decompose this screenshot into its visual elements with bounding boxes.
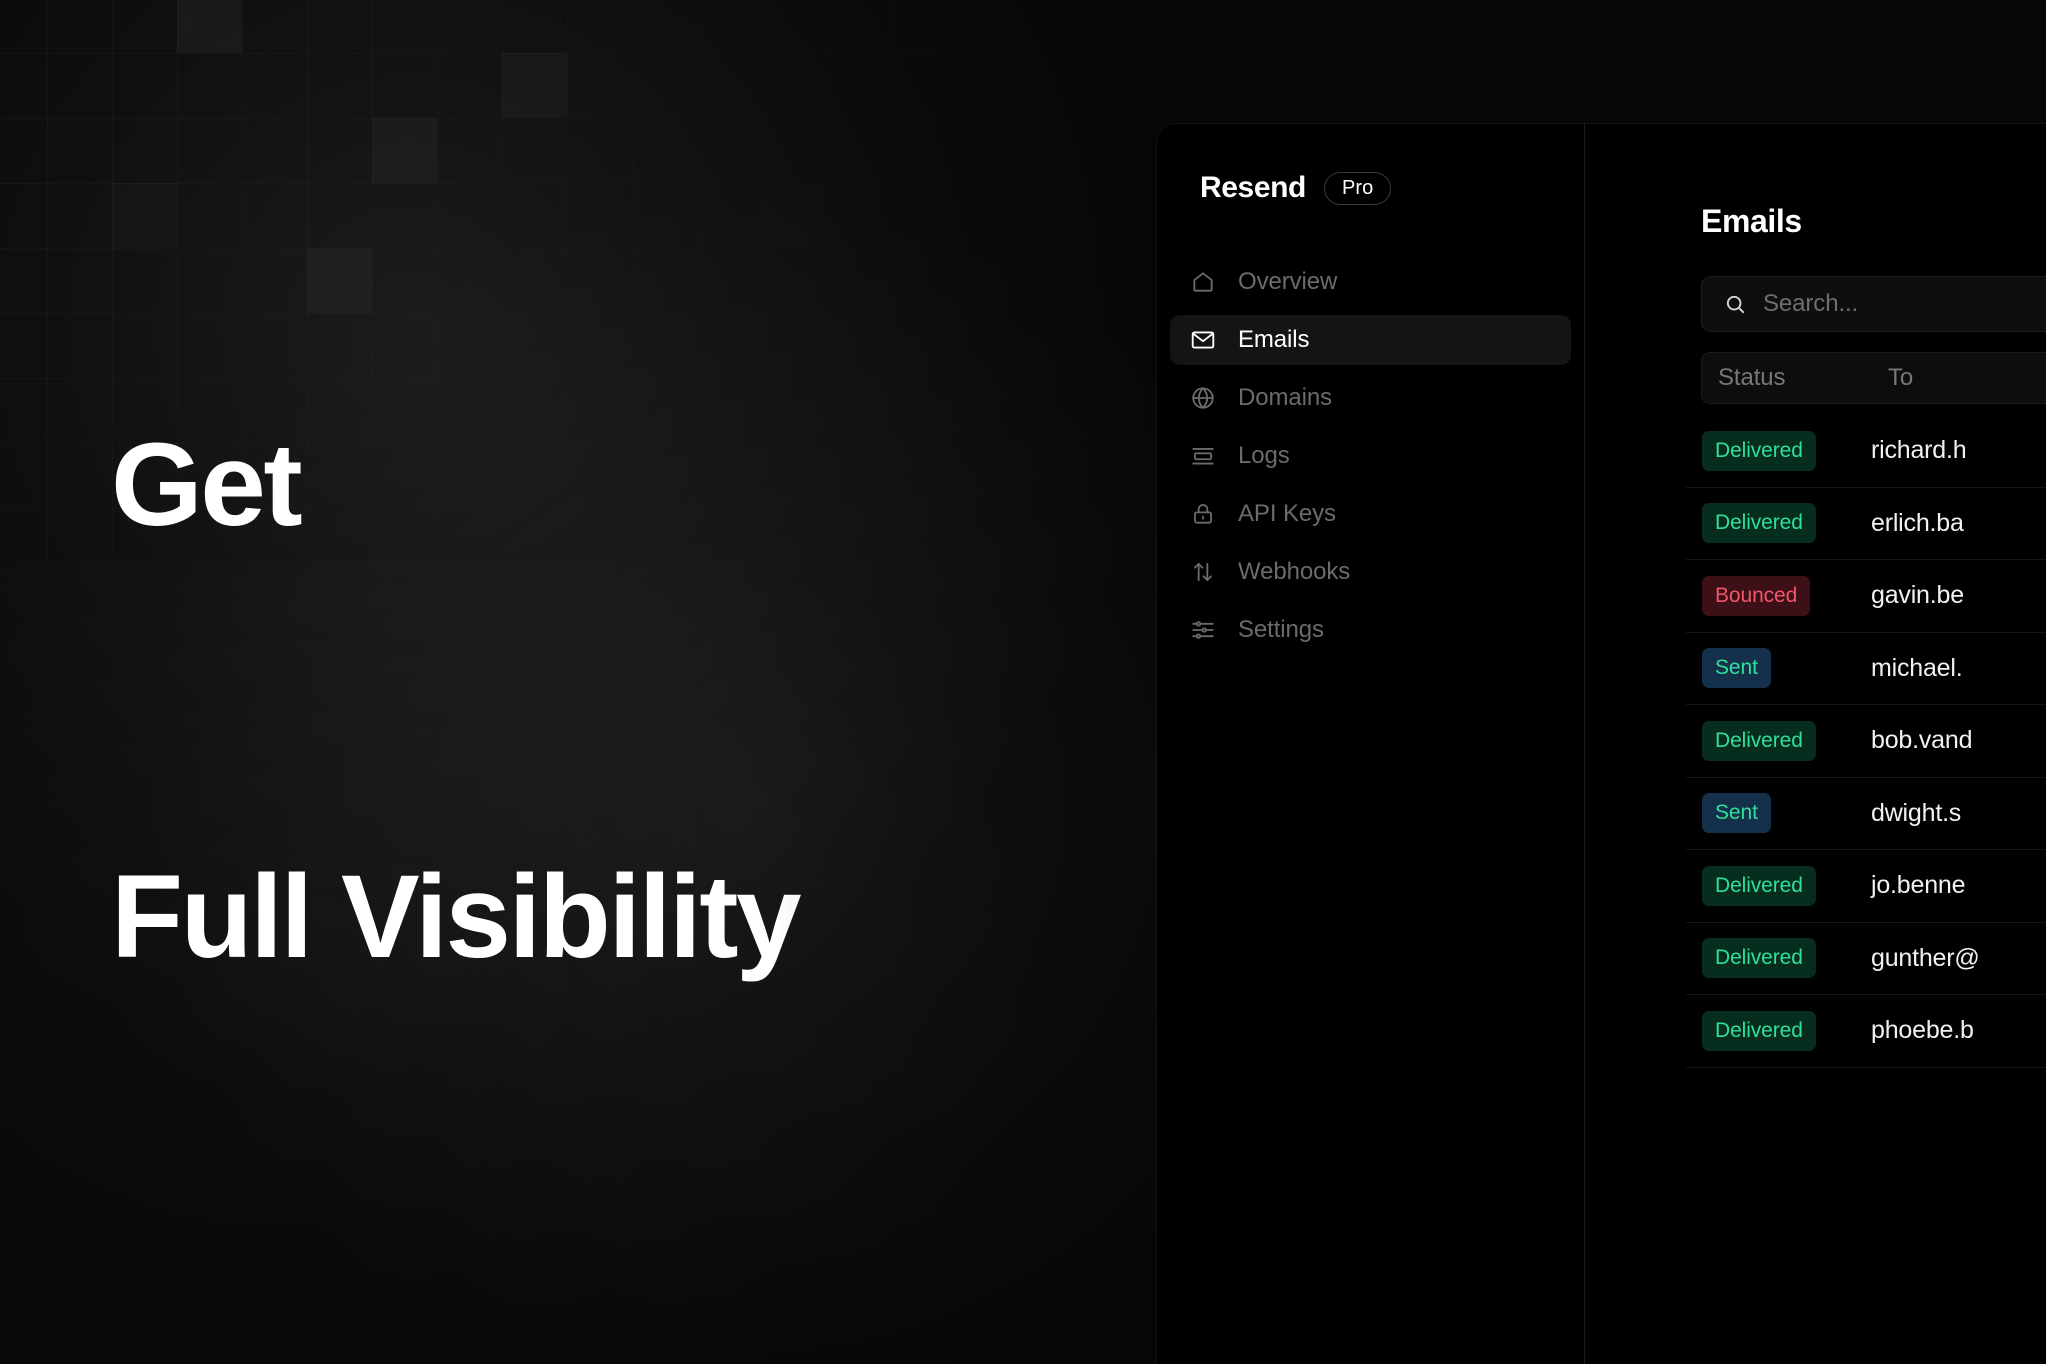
sidebar: Resend Pro Overview — [1157, 124, 1585, 1364]
sidebar-item-webhooks[interactable]: Webhooks — [1170, 547, 1571, 597]
search-placeholder: Search... — [1763, 290, 1858, 318]
status-cell: Sent — [1686, 793, 1871, 833]
recipient-cell: jo.benne — [1871, 871, 2046, 900]
status-cell: Delivered — [1686, 1011, 1871, 1051]
table-row[interactable]: Bouncedgavin.be — [1686, 560, 2046, 633]
table-row[interactable]: Deliverederlich.ba — [1686, 488, 2046, 561]
globe-icon — [1190, 385, 1216, 411]
sidebar-item-domains[interactable]: Domains — [1170, 373, 1571, 423]
sidebar-item-api-keys[interactable]: API Keys — [1170, 489, 1571, 539]
status-badge: Delivered — [1702, 1011, 1816, 1051]
sidebar-item-label: Overview — [1238, 270, 1337, 294]
email-table-body: Deliveredrichard.hDeliverederlich.baBoun… — [1686, 415, 2046, 1364]
table-row[interactable]: Deliveredjo.benne — [1686, 850, 2046, 923]
status-badge: Sent — [1702, 793, 1771, 833]
status-badge: Delivered — [1702, 938, 1816, 978]
table-header: Status To — [1701, 352, 2046, 404]
sidebar-item-logs[interactable]: Logs — [1170, 431, 1571, 481]
table-row[interactable]: Deliveredgunther@ — [1686, 923, 2046, 996]
page-title: Emails — [1701, 203, 1802, 240]
recipient-cell: michael. — [1871, 654, 2046, 683]
table-row[interactable]: Deliveredphoebe.b — [1686, 995, 2046, 1068]
table-row[interactable]: Deliveredbob.vand — [1686, 705, 2046, 778]
recipient-cell: erlich.ba — [1871, 509, 2046, 538]
hero-screenshot: Get Full Visibility Resend Pro Overview — [0, 0, 2046, 1364]
recipient-cell: phoebe.b — [1871, 1016, 2046, 1045]
brand-name: Resend — [1200, 171, 1306, 205]
status-cell: Bounced — [1686, 576, 1871, 616]
hero-headline-line-1: Get — [111, 414, 1011, 558]
status-cell: Sent — [1686, 648, 1871, 688]
sidebar-nav: Overview Emails — [1157, 257, 1584, 655]
arrows-up-down-icon — [1190, 559, 1216, 585]
status-cell: Delivered — [1686, 503, 1871, 543]
status-cell: Delivered — [1686, 938, 1871, 978]
lock-icon — [1190, 501, 1216, 527]
home-icon — [1190, 269, 1216, 295]
status-badge: Sent — [1702, 648, 1771, 688]
sidebar-item-label: Webhooks — [1238, 560, 1350, 584]
status-cell: Delivered — [1686, 866, 1871, 906]
sidebar-item-label: API Keys — [1238, 502, 1336, 526]
table-row[interactable]: Sentdwight.s — [1686, 778, 2046, 851]
status-badge: Bounced — [1702, 576, 1810, 616]
sidebar-item-settings[interactable]: Settings — [1170, 605, 1571, 655]
sliders-icon — [1190, 617, 1216, 643]
logs-icon — [1190, 443, 1216, 469]
recipient-cell: dwight.s — [1871, 799, 2046, 828]
search-input[interactable]: Search... — [1701, 276, 2046, 332]
status-cell: Delivered — [1686, 721, 1871, 761]
status-badge: Delivered — [1702, 866, 1816, 906]
recipient-cell: bob.vand — [1871, 726, 2046, 755]
column-header-to: To — [1888, 364, 2046, 392]
hero-headline: Get Full Visibility — [111, 126, 1011, 1278]
sidebar-item-label: Domains — [1238, 386, 1332, 410]
app-window: Resend Pro Overview — [1157, 124, 2046, 1364]
plan-badge: Pro — [1324, 172, 1391, 205]
status-badge: Delivered — [1702, 721, 1816, 761]
sidebar-item-label: Emails — [1238, 328, 1309, 352]
sidebar-item-label: Logs — [1238, 444, 1290, 468]
status-cell: Delivered — [1686, 431, 1871, 471]
recipient-cell: gunther@ — [1871, 944, 2046, 973]
table-row[interactable]: Deliveredrichard.h — [1686, 415, 2046, 488]
table-row[interactable]: Sentmichael. — [1686, 633, 2046, 706]
hero-headline-line-2: Full Visibility — [111, 846, 1011, 990]
main-content: Emails Search... Status To Deliveredrich… — [1586, 124, 2046, 1364]
recipient-cell: richard.h — [1871, 436, 2046, 465]
status-badge: Delivered — [1702, 431, 1816, 471]
search-icon — [1724, 293, 1747, 316]
brand: Resend Pro — [1157, 124, 1584, 205]
sidebar-item-overview[interactable]: Overview — [1170, 257, 1571, 307]
sidebar-item-emails[interactable]: Emails — [1170, 315, 1571, 365]
sidebar-item-label: Settings — [1238, 618, 1324, 642]
status-badge: Delivered — [1702, 503, 1816, 543]
column-header-status: Status — [1718, 364, 1888, 392]
envelope-icon — [1190, 327, 1216, 353]
recipient-cell: gavin.be — [1871, 581, 2046, 610]
